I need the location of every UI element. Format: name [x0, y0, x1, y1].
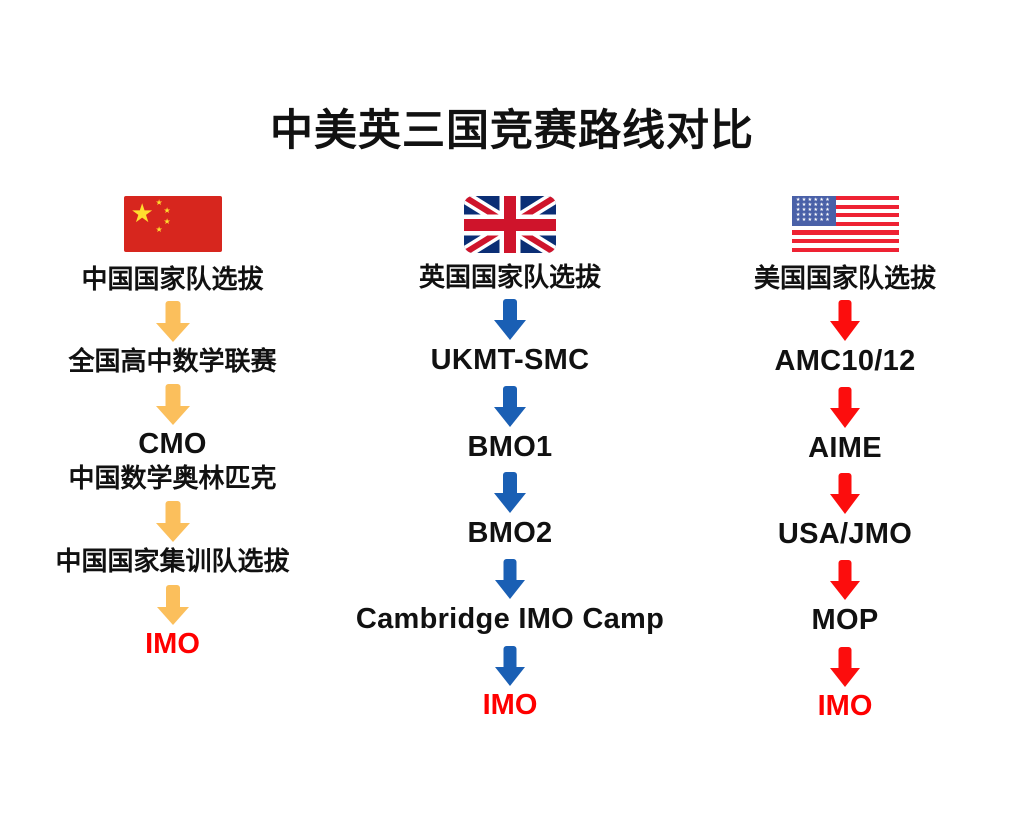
flow-arrow-down-icon: [494, 299, 526, 340]
flow-node-label: AIME: [808, 432, 882, 466]
flag-star-small: ★: [164, 218, 171, 226]
flow-arrow-down-icon: [494, 472, 526, 513]
column-header-usa: 美国国家队选拔: [754, 263, 936, 293]
flow-node-label: MOP: [812, 604, 879, 638]
flow-node-label: Cambridge IMO Camp: [356, 603, 664, 637]
flow-arrow-down-icon: [157, 585, 189, 625]
flag-star-small: ★: [156, 199, 163, 207]
competition-route-infographic: 中美英三国竞赛路线对比 ★ ★ ★ ★ ★ 中国国家队选拔 全国高中数学联赛 C…: [0, 0, 1024, 819]
flag-star-small: ★: [164, 207, 171, 215]
page-title: 中美英三国竞赛路线对比: [0, 108, 1024, 155]
flow-node-final-label: IMO: [818, 690, 873, 724]
country-columns: ★ ★ ★ ★ ★ 中国国家队选拔 全国高中数学联赛 CMO 中国数学奥林匹克: [0, 196, 1024, 723]
flow-node-sublabel: 中国数学奥林匹克: [68, 463, 276, 493]
country-column-usa: ★★★★★★ ★★★★★★ ★★★★★★ ★★★★★★ ★★★★★★ 美国国家队…: [675, 196, 1015, 723]
flow-node-final-label: IMO: [483, 689, 538, 723]
flow-node-label: USA/JMO: [778, 518, 912, 552]
flow-arrow-down-icon: [830, 300, 861, 341]
flag-star-small: ★: [156, 226, 163, 234]
country-column-china: ★ ★ ★ ★ ★ 中国国家队选拔 全国高中数学联赛 CMO 中国数学奥林匹克: [0, 196, 345, 662]
flow-arrow-down-icon: [495, 646, 525, 686]
flow-node-label: UKMT-SMC: [431, 344, 590, 378]
flow-arrow-down-icon: [830, 387, 861, 428]
flow-arrow-down-icon: [156, 384, 190, 425]
country-column-uk: 英国国家队选拔 UKMT-SMC BMO1 BMO2 Cambridge IMO: [345, 196, 675, 722]
flow-arrow-down-icon: [495, 559, 525, 599]
flow-node-label: CMO: [138, 428, 207, 462]
china-flag-icon: ★ ★ ★ ★ ★: [124, 196, 222, 252]
flow-arrow-down-icon: [830, 473, 861, 514]
column-header-china: 中国国家队选拔: [81, 264, 263, 294]
flow-node-label: BMO1: [468, 431, 553, 465]
uk-flag-icon: [464, 196, 556, 253]
flow-arrow-down-icon: [156, 301, 190, 342]
flow-node-label: BMO2: [468, 517, 553, 551]
flow-arrow-down-icon: [494, 386, 526, 427]
flow-node-label: 全国高中数学联赛: [68, 346, 276, 376]
flow-arrow-down-icon: [156, 501, 190, 542]
flow-arrow-down-icon: [830, 560, 861, 600]
flow-node-label: 中国国家集训队选拔: [55, 546, 289, 576]
flow-node-label: AMC10/12: [774, 345, 915, 379]
column-header-uk: 英国国家队选拔: [419, 262, 601, 292]
flow-arrow-down-icon: [830, 647, 860, 687]
usa-flag-icon: ★★★★★★ ★★★★★★ ★★★★★★ ★★★★★★ ★★★★★★: [792, 196, 899, 252]
flag-canton: ★★★★★★ ★★★★★★ ★★★★★★ ★★★★★★ ★★★★★★: [792, 196, 836, 226]
flow-node-final-label: IMO: [145, 628, 200, 662]
flag-star-large: ★: [131, 201, 154, 227]
